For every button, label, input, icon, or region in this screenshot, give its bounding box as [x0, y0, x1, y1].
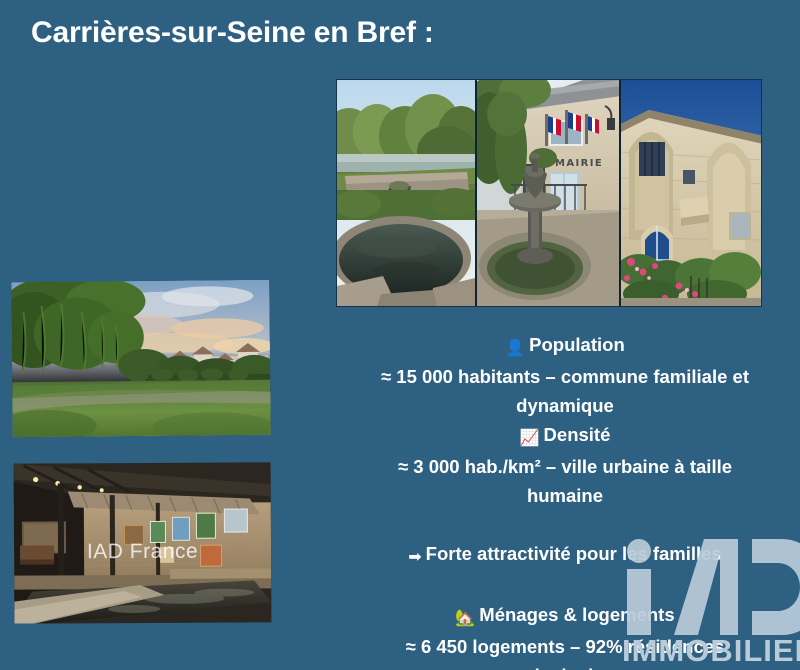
stats-line-text: principales	[516, 665, 614, 670]
stats-line-text: dynamique	[516, 395, 614, 416]
stats-line: principales	[330, 661, 800, 670]
photo-stone-building	[619, 80, 761, 306]
stats-line: 📈Densité	[330, 420, 800, 452]
stats-line: ≈ 6 450 logements – 92% résidences	[330, 632, 800, 661]
stats-line-text: Population	[529, 334, 625, 355]
svg-text:MAIRIE: MAIRIE	[555, 158, 603, 169]
photo-riverside-washhouse	[337, 80, 475, 306]
photo-strip: MAIRIE	[337, 80, 761, 306]
photo-covered-lavoir: IAD France	[14, 462, 272, 623]
text-spacer	[330, 510, 800, 539]
stats-line: ≈ 15 000 habitants – commune familiale e…	[330, 362, 800, 391]
stats-line-text: Densité	[544, 424, 611, 445]
photo-mairie-fountain: MAIRIE	[475, 80, 621, 306]
stats-line-text: humaine	[527, 485, 603, 506]
stats-line-text: ≈ 6 450 logements – 92% résidences	[406, 636, 725, 657]
stats-line-text: ≈ 3 000 hab./km² – ville urbaine à taill…	[398, 456, 732, 477]
stats-line: 🏡Ménages & logements	[330, 600, 800, 632]
chart-increasing-icon: 📈	[520, 423, 540, 452]
right-arrow-icon: ➡	[408, 542, 421, 571]
stats-line: humaine	[330, 481, 800, 510]
stats-line: ≈ 3 000 hab./km² – ville urbaine à taill…	[330, 452, 800, 481]
slide-canvas: Carrières-sur-Seine en Bref :	[0, 0, 800, 670]
stats-line: ➡Forte attractivité pour les familles	[330, 539, 800, 571]
house-with-garden-icon: 🏡	[455, 603, 475, 632]
stats-line-text: Ménages & logements	[479, 604, 674, 625]
text-spacer	[330, 571, 800, 600]
stats-line-text: ≈ 15 000 habitants – commune familiale e…	[381, 366, 749, 387]
photo-park-sunset	[11, 280, 270, 437]
stats-line: 👤Population	[330, 330, 800, 362]
stats-line-text: Forte attractivité pour les familles	[426, 543, 722, 564]
page-title: Carrières-sur-Seine en Bref :	[31, 16, 434, 50]
bust-in-silhouette-icon: 👤	[505, 333, 525, 362]
stats-text-block: 👤Population≈ 15 000 habitants – commune …	[330, 330, 800, 670]
stats-line: dynamique	[330, 391, 800, 420]
